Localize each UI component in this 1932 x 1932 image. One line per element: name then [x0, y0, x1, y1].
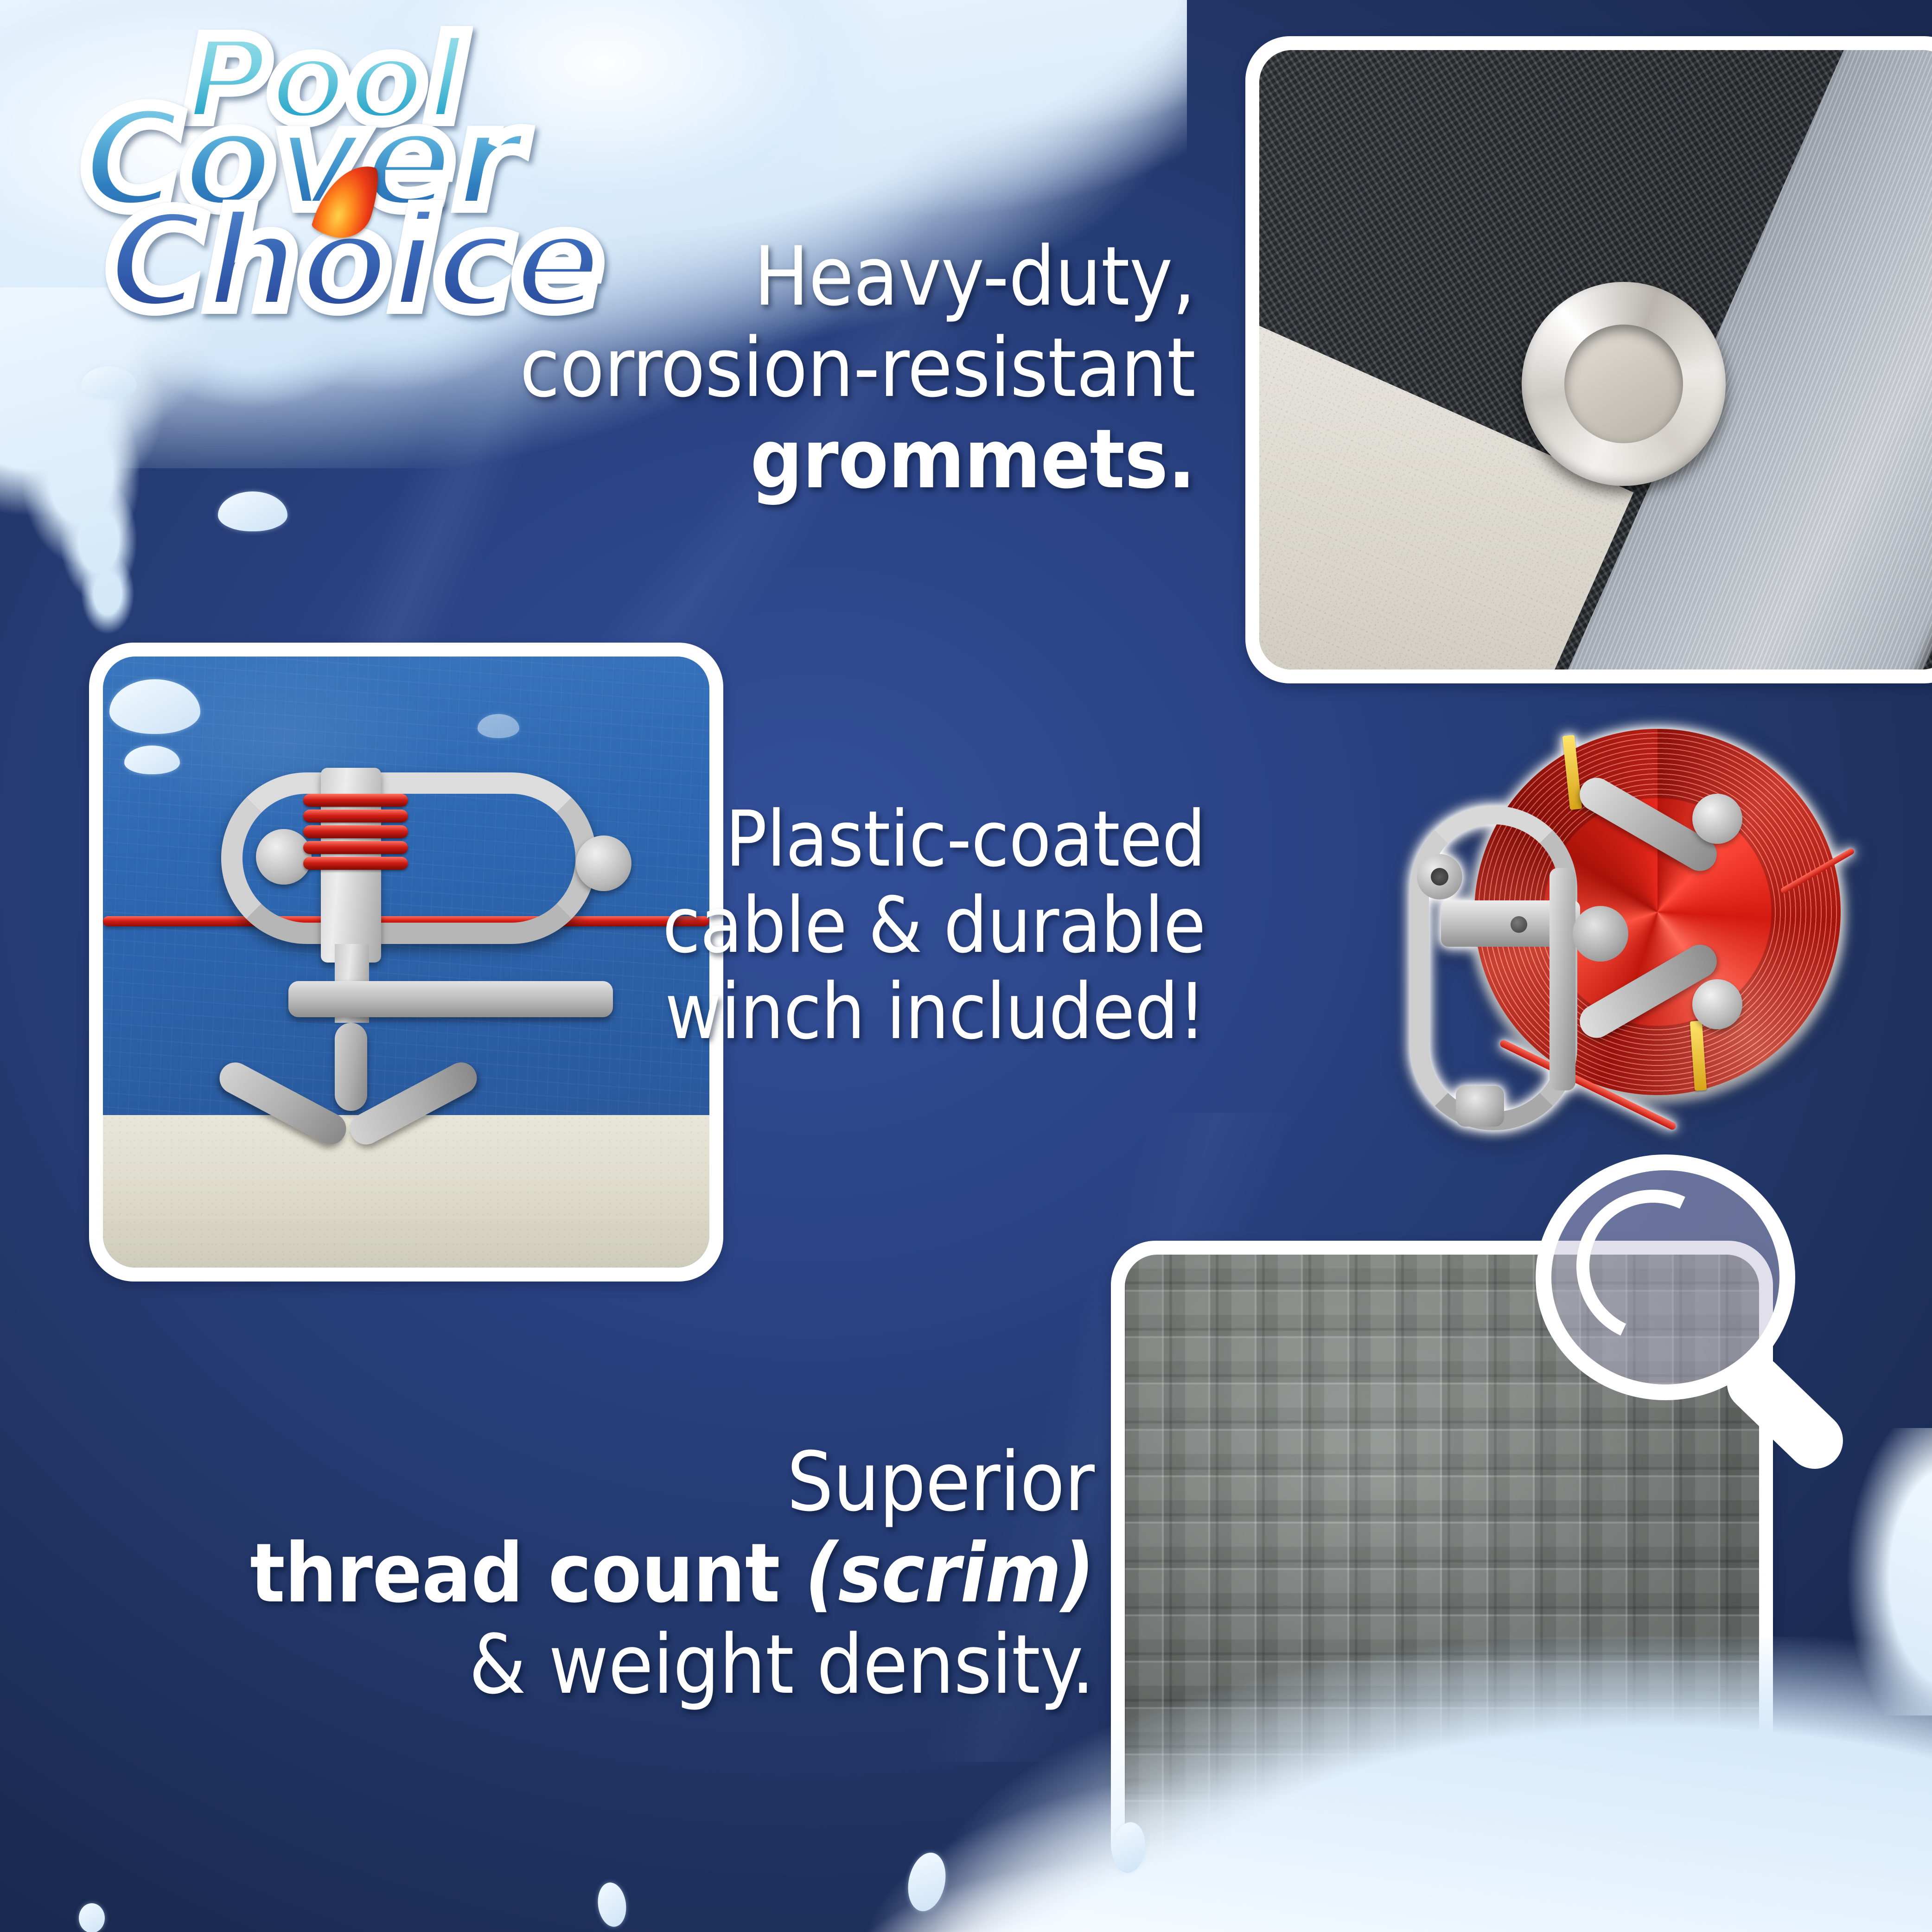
feature-line: Heavy-duty,	[399, 231, 1195, 322]
cable-coil-wrap	[303, 794, 408, 807]
feature-line: corrosion-resistant	[399, 322, 1195, 414]
winch-handle-knob	[1692, 979, 1742, 1029]
cable-coil-wrap	[303, 810, 408, 823]
water-droplet	[903, 1849, 951, 1914]
cable-coil-wrap	[303, 857, 408, 870]
winch-foot	[1456, 1086, 1504, 1127]
winch-ratchet-plate	[1549, 868, 1575, 1090]
grommet-photo-frame	[1245, 36, 1932, 683]
winch-base-plate	[288, 981, 613, 1017]
feature-line: Plastic-coated	[603, 797, 1205, 883]
winch-handle-knob	[1692, 794, 1742, 844]
magnifying-glass-icon	[1536, 1154, 1860, 1558]
water-droplet	[595, 1881, 629, 1928]
cable-coil-wrap	[303, 825, 408, 838]
feature-text-scrim: Superior thread count (scrim) & weight d…	[195, 1436, 1094, 1710]
infographic-canvas: Pool Cover Choice Heavy-duty, corrosion-…	[0, 0, 1932, 1932]
cable-and-winch-product-image	[1372, 715, 1864, 1160]
feature-text-cable-winch: Plastic-coated cable & durable winch inc…	[603, 797, 1205, 1055]
water-droplet	[79, 1903, 105, 1932]
winch-boss-left	[256, 829, 312, 885]
pool-coping	[103, 1115, 709, 1268]
feature-line-emphasis: thread count (scrim)	[195, 1528, 1094, 1619]
anchor-post	[335, 1023, 367, 1111]
cable-coil-wrap	[303, 841, 408, 854]
feature-line-emphasis: grommets.	[399, 414, 1195, 505]
feature-emphasis-italic: (scrim)	[805, 1526, 1094, 1621]
winch-eyelet	[1417, 854, 1462, 899]
feature-line: cable & durable	[603, 883, 1205, 969]
feature-line: Superior	[195, 1436, 1094, 1528]
feature-emphasis-bold: thread count	[250, 1526, 805, 1621]
water-droplet	[81, 366, 137, 399]
grommet-ring	[1522, 282, 1726, 486]
grommet-photo	[1259, 50, 1932, 670]
winch-handle-hub	[1573, 906, 1628, 962]
water-splash-left	[0, 287, 241, 695]
feature-line: winch included!	[603, 969, 1205, 1055]
feature-text-grommets: Heavy-duty, corrosion-resistant grommets…	[399, 231, 1195, 505]
water-droplet	[218, 491, 287, 531]
feature-line: & weight density.	[195, 1619, 1094, 1710]
